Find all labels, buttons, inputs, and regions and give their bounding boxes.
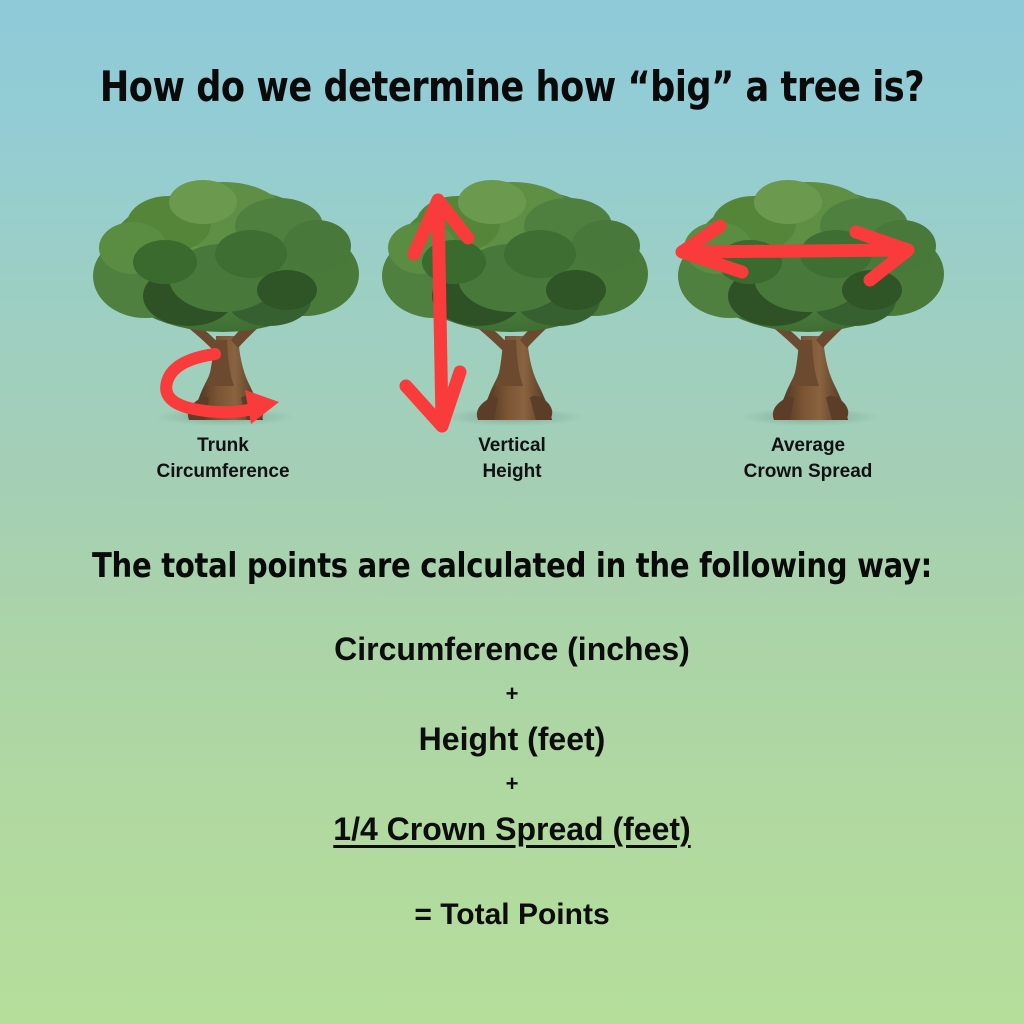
page-title: How do we determine how “big” a tree is? <box>36 62 988 111</box>
label-line-2: Circumference <box>73 459 373 485</box>
measurement-label-trunk-circumference: Trunk Circumference <box>73 433 373 485</box>
formula-term-height: Height (feet) <box>0 716 1024 762</box>
label-line-2: Height <box>362 459 662 485</box>
calculation-heading: The total points are calculated in the f… <box>26 546 999 586</box>
formula-operator-plus-1: + <box>0 672 1024 716</box>
formula-operator-plus-2: + <box>0 762 1024 806</box>
formula-total: = Total Points <box>0 894 1024 936</box>
measurement-card-average-crown-spread: Average Crown Spread <box>658 168 958 498</box>
vertical-height-arrow-icon <box>362 168 662 433</box>
poster: How do we determine how “big” a tree is? <box>0 0 1024 1024</box>
formula-term-circumference: Circumference (inches) <box>0 626 1024 672</box>
trunk-circumference-arrow-icon <box>73 168 373 433</box>
crown-spread-arrow-icon <box>658 168 958 433</box>
label-line-1: Average <box>658 433 958 459</box>
measurement-label-vertical-height: Vertical Height <box>362 433 662 485</box>
measurement-card-trunk-circumference: Trunk Circumference <box>73 168 373 498</box>
measurement-label-average-crown-spread: Average Crown Spread <box>658 433 958 485</box>
label-line-1: Trunk <box>73 433 373 459</box>
label-line-1: Vertical <box>362 433 662 459</box>
formula-term-crown-spread: 1/4 Crown Spread (feet) <box>0 806 1024 852</box>
label-line-2: Crown Spread <box>658 459 958 485</box>
measurement-card-vertical-height: Vertical Height <box>362 168 662 498</box>
measurement-illustrations: Trunk Circumference <box>0 168 1024 498</box>
points-formula: Circumference (inches) + Height (feet) +… <box>0 626 1024 936</box>
